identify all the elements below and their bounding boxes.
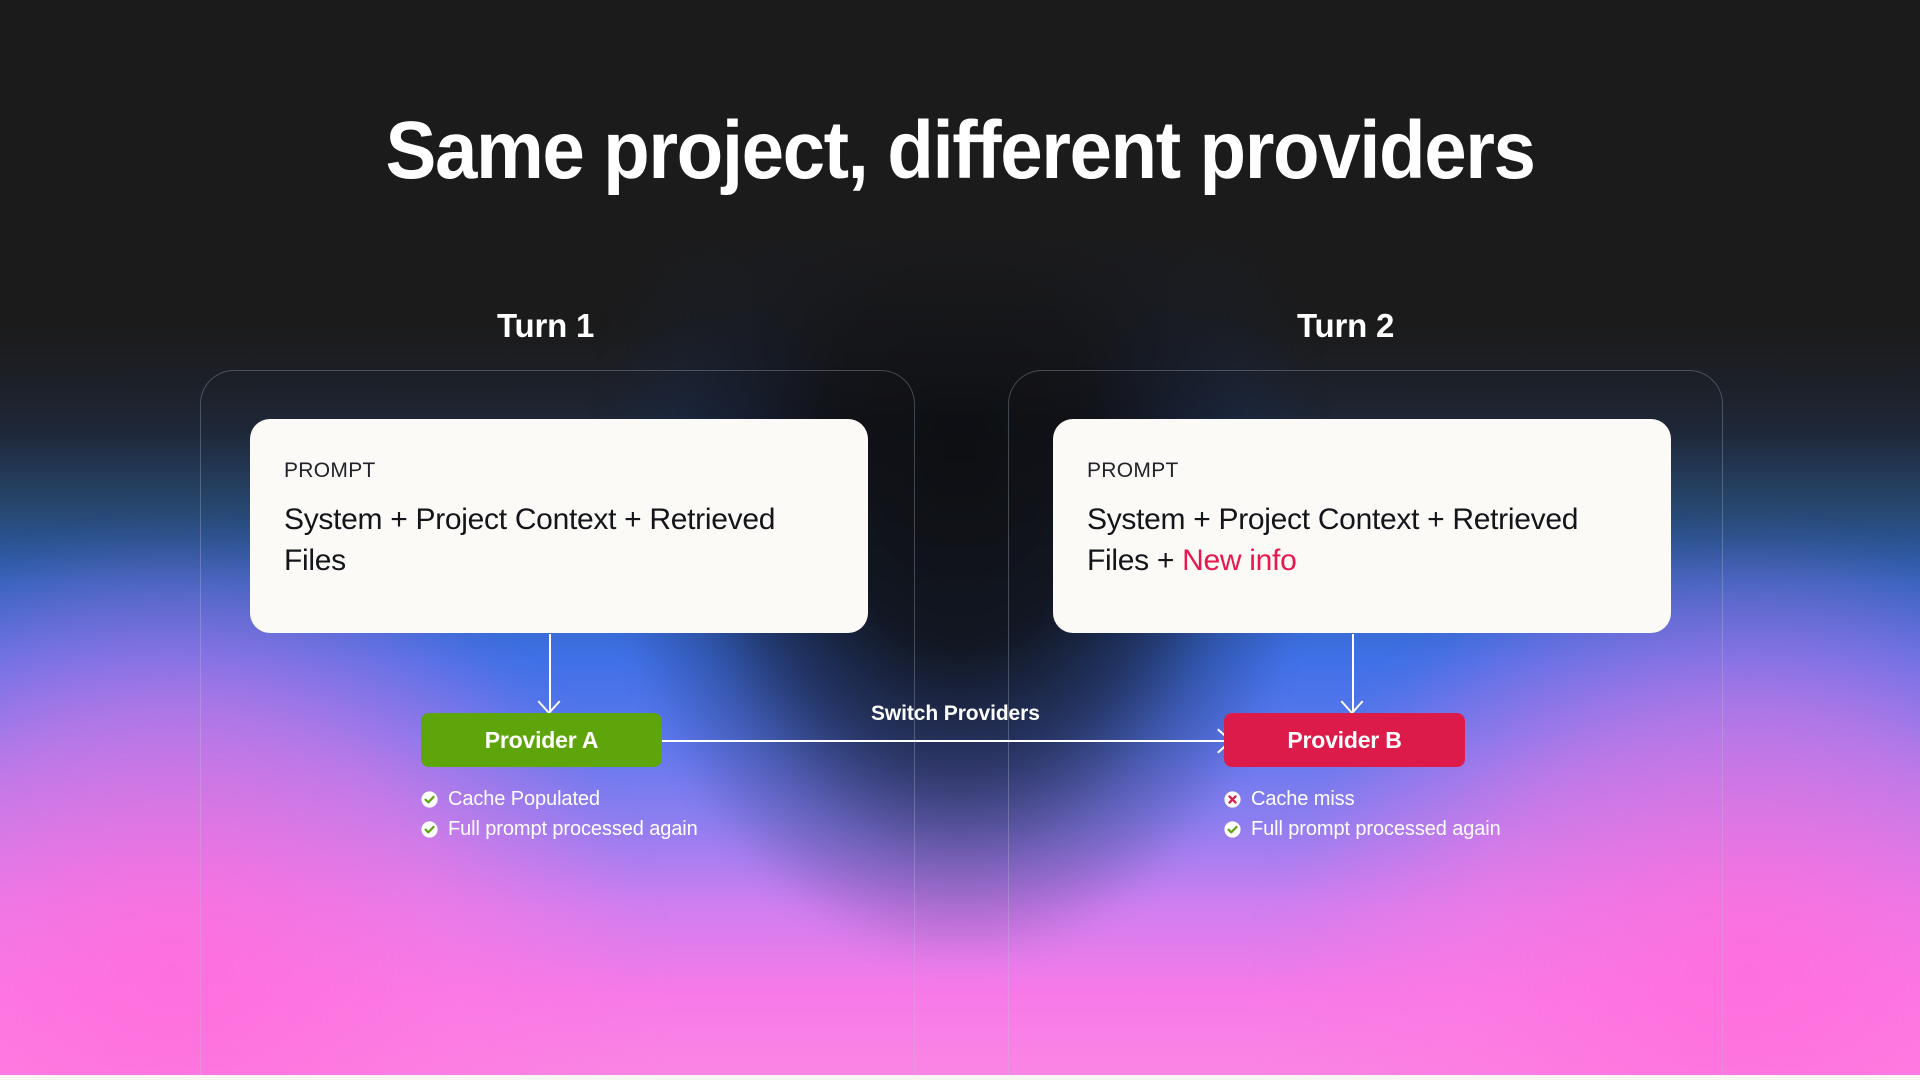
list-item-label: Full prompt processed again [1251, 818, 1501, 841]
background-top-fade [0, 0, 1920, 420]
prompt-body: System + Project Context + Retrieved Fil… [284, 499, 834, 582]
prompt-body: System + Project Context + Retrieved Fil… [1087, 499, 1637, 582]
prompt-highlight: New info [1182, 544, 1296, 577]
prompt-kicker: PROMPT [284, 459, 834, 483]
arrow-head [542, 698, 558, 713]
page-title: Same project, different providers [67, 104, 1853, 198]
slide-canvas: Same project, different providers Turn 1… [0, 0, 1920, 1080]
provider-a-label: Provider A [485, 727, 598, 754]
turn-1-heading: Turn 1 [497, 307, 594, 345]
provider-b-label: Provider B [1287, 727, 1401, 754]
turn-1-status-list: Cache Populated Full prompt processed ag… [421, 787, 698, 847]
turn-2-heading: Turn 2 [1297, 307, 1394, 345]
list-item: Cache Populated [421, 787, 698, 812]
turn-2-status-list: Cache miss Full prompt processed again [1224, 787, 1501, 847]
list-item-label: Cache miss [1251, 788, 1354, 811]
turn-2-prompt-card: PROMPT System + Project Context + Retrie… [1053, 419, 1671, 633]
list-item: Full prompt processed again [1224, 817, 1501, 842]
provider-b-button[interactable]: Provider B [1224, 713, 1465, 767]
turn-1-down-arrow-icon [540, 634, 560, 712]
list-item-label: Full prompt processed again [448, 818, 698, 841]
bottom-edge-sliver [0, 1075, 1920, 1080]
arrow-head [1345, 698, 1361, 713]
prompt-body-text: System + Project Context + Retrieved Fil… [1087, 503, 1578, 577]
prompt-body-text: System + Project Context + Retrieved Fil… [284, 503, 775, 577]
turn-1-prompt-card: PROMPT System + Project Context + Retrie… [250, 419, 868, 633]
check-circle-icon [1224, 821, 1241, 838]
prompt-kicker: PROMPT [1087, 459, 1637, 483]
list-item: Cache miss [1224, 787, 1501, 812]
turn-2-down-arrow-icon [1343, 634, 1363, 712]
cross-circle-icon [1224, 791, 1241, 808]
check-circle-icon [421, 821, 438, 838]
check-circle-icon [421, 791, 438, 808]
provider-a-button[interactable]: Provider A [421, 713, 662, 767]
list-item: Full prompt processed again [421, 817, 698, 842]
list-item-label: Cache Populated [448, 788, 600, 811]
